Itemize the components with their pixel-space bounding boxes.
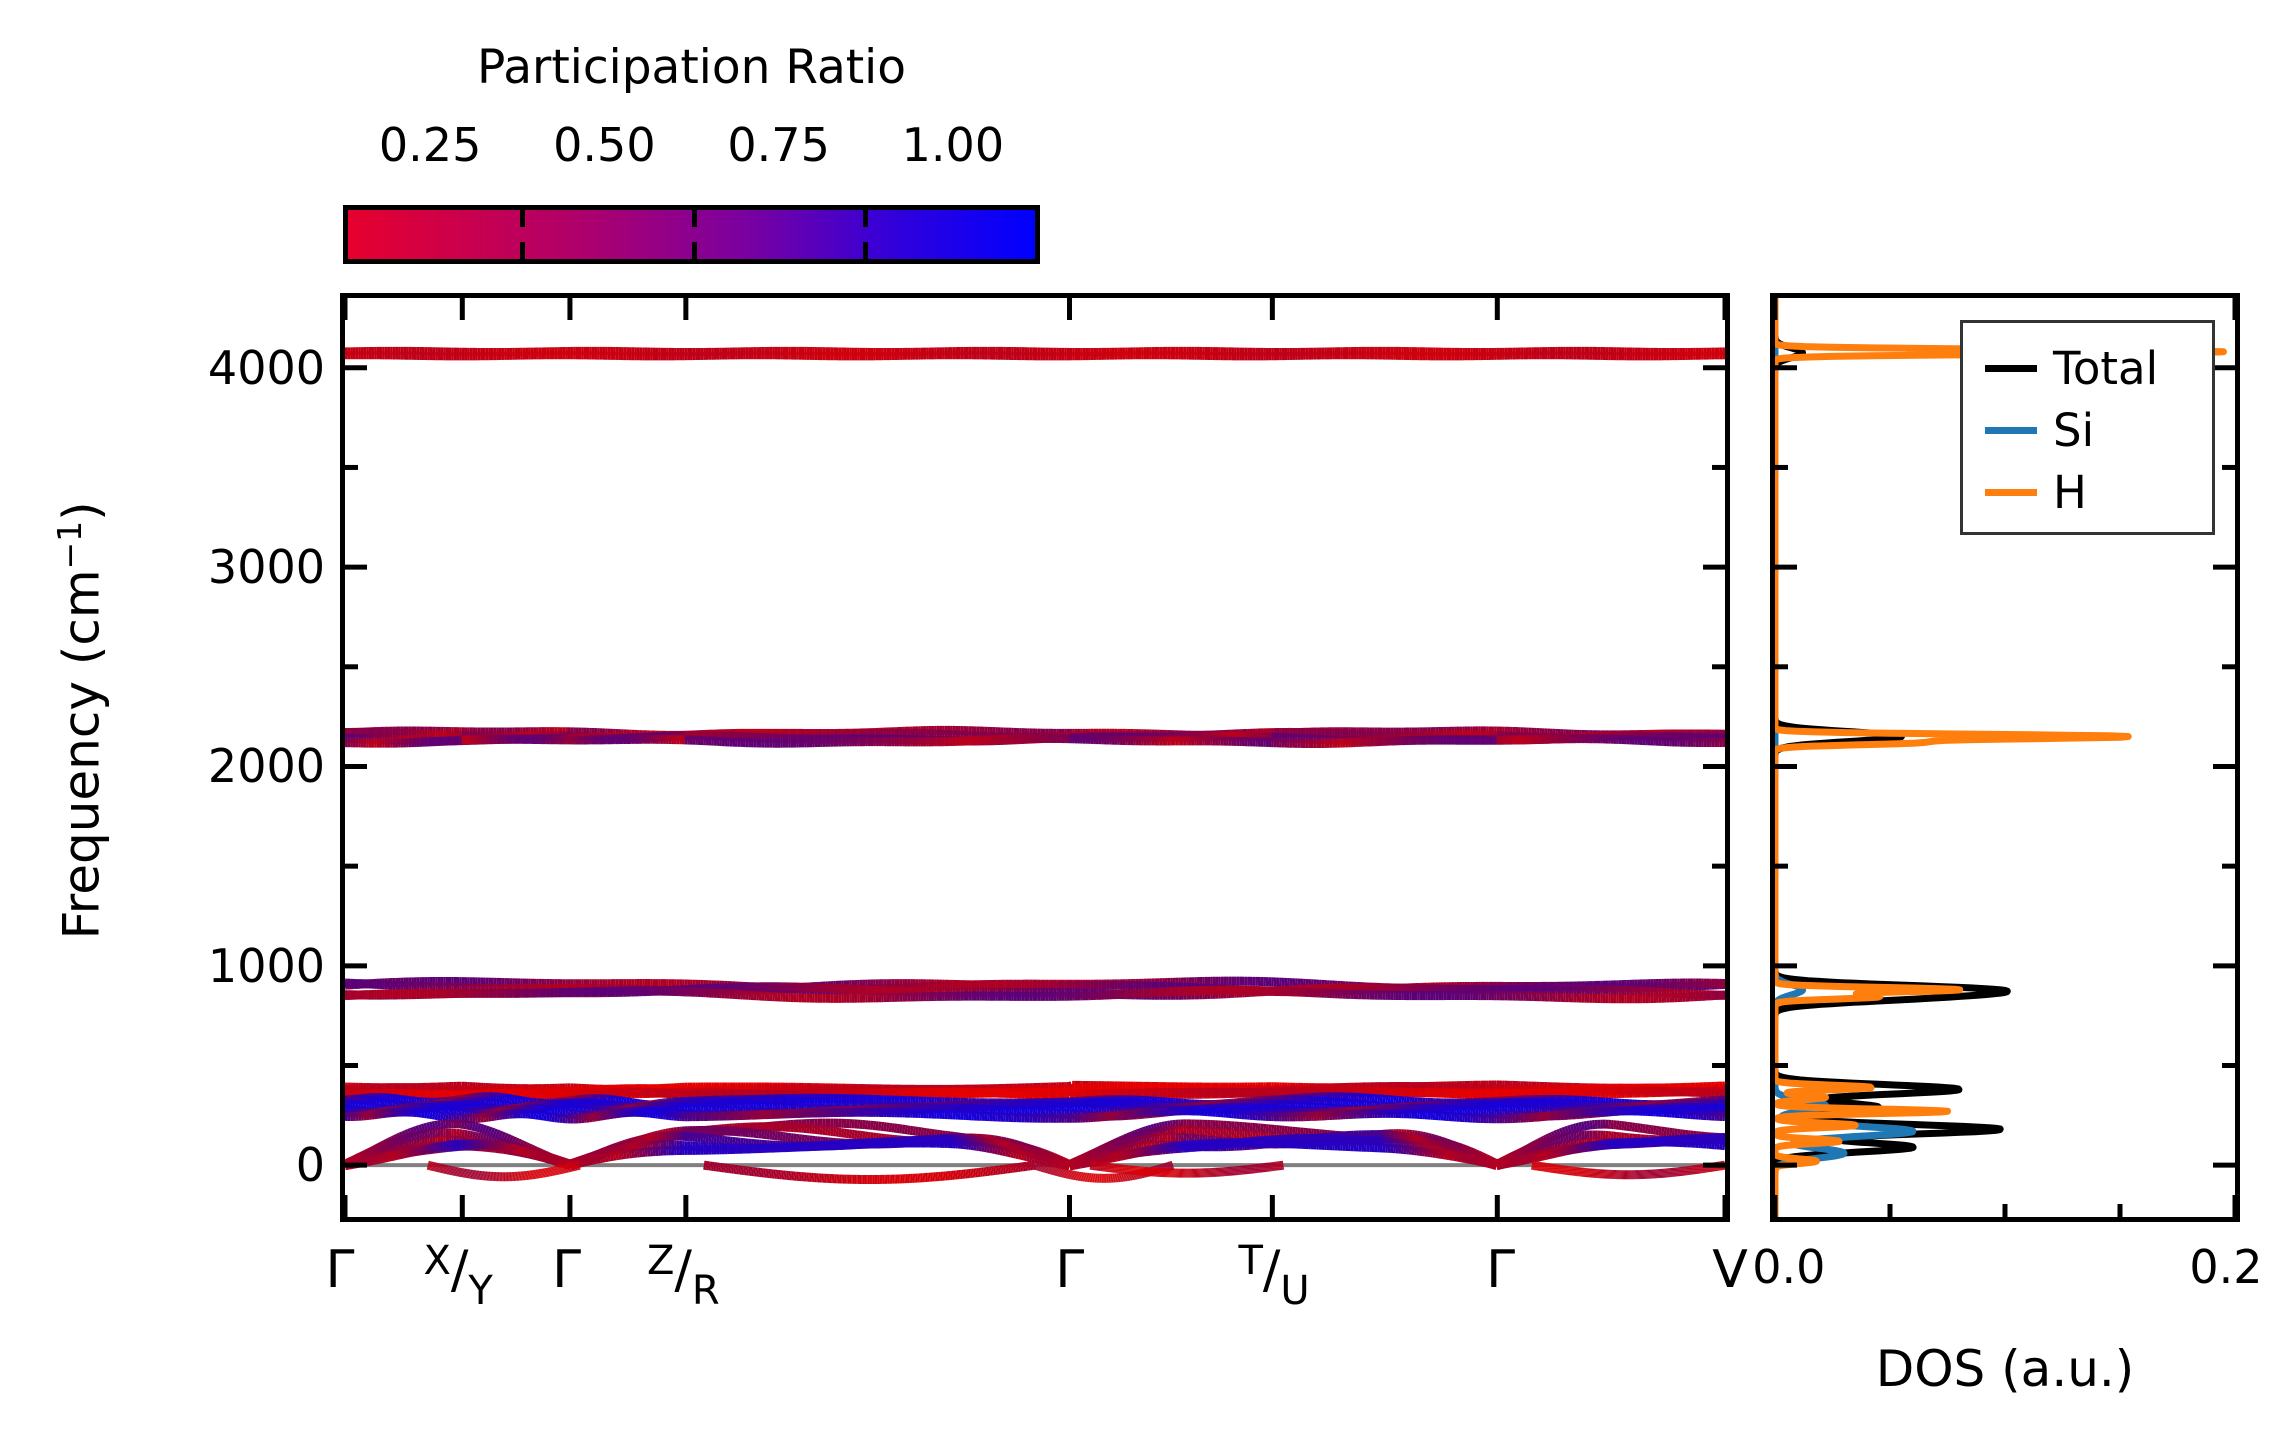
participation-ratio-colorbar: [343, 205, 1040, 264]
legend-line-si: [1985, 427, 2037, 434]
y-axis-tick-label: 3000: [208, 540, 325, 594]
colorbar-tick: [692, 242, 697, 259]
dos-legend: Total Si H: [1960, 320, 2215, 535]
y-axis-tick-label: 2000: [208, 739, 325, 793]
y-axis-title: Frequency (cm−1): [50, 270, 111, 1170]
legend-entry-si: Si: [1963, 399, 2212, 461]
legend-label-h: H: [2053, 470, 2087, 515]
y-axis-tick-label: 1000: [208, 939, 325, 993]
colorbar-tick: [520, 210, 525, 227]
x-axis-tick-label: Γ: [1486, 1240, 1515, 1300]
colorbar-title: Participation Ratio: [343, 40, 1040, 96]
colorbar-tick-labels: 0.25 0.50 0.75 1.00: [343, 118, 1040, 170]
colorbar-tick-label: 1.00: [902, 118, 1004, 172]
colorbar-tick-label: 0.50: [553, 118, 655, 172]
colorbar-tick: [863, 210, 868, 227]
phonon-band-structure-panel: [340, 293, 1730, 1222]
dos-x-axis-tick-labels: 0.0 0.2: [1770, 1240, 2240, 1310]
x-axis-tick-label: V: [1712, 1240, 1748, 1300]
colorbar-tick-label: 0.75: [727, 118, 829, 172]
x-axis-tick-label: Z/R: [647, 1240, 720, 1300]
colorbar-tick-label: 0.25: [379, 118, 481, 172]
x-axis-tick-label: Γ: [326, 1240, 355, 1300]
x-axis-tick-label: T/U: [1238, 1240, 1309, 1300]
colorbar-tick: [863, 242, 868, 259]
x-axis-tick-label: X/Y: [423, 1240, 492, 1300]
dos-tick-label: 0.0: [1752, 1240, 1825, 1294]
legend-label-si: Si: [2053, 408, 2094, 453]
legend-entry-h: H: [1963, 461, 2212, 523]
legend-line-h: [1985, 489, 2037, 496]
y-axis-title-text: Frequency (cm−1): [52, 501, 110, 939]
dos-tick-label: 0.2: [2189, 1240, 2262, 1294]
legend-line-total: [1985, 365, 2037, 372]
x-axis-tick-label: Γ: [552, 1240, 581, 1300]
y-axis-tick-label: 4000: [208, 341, 325, 395]
colorbar-tick: [520, 242, 525, 259]
dos-axis-title: DOS (a.u.): [1770, 1340, 2240, 1398]
x-axis-tick-label: Γ: [1055, 1240, 1084, 1300]
band-structure-plot: [345, 298, 1725, 1217]
y-axis-tick-label: 0: [296, 1138, 325, 1192]
x-axis-high-symmetry-labels: ΓX/YΓZ/RΓT/UΓV: [340, 1240, 1730, 1350]
colorbar-tick: [692, 210, 697, 227]
legend-label-total: Total: [2053, 346, 2158, 391]
legend-entry-total: Total: [1963, 337, 2212, 399]
